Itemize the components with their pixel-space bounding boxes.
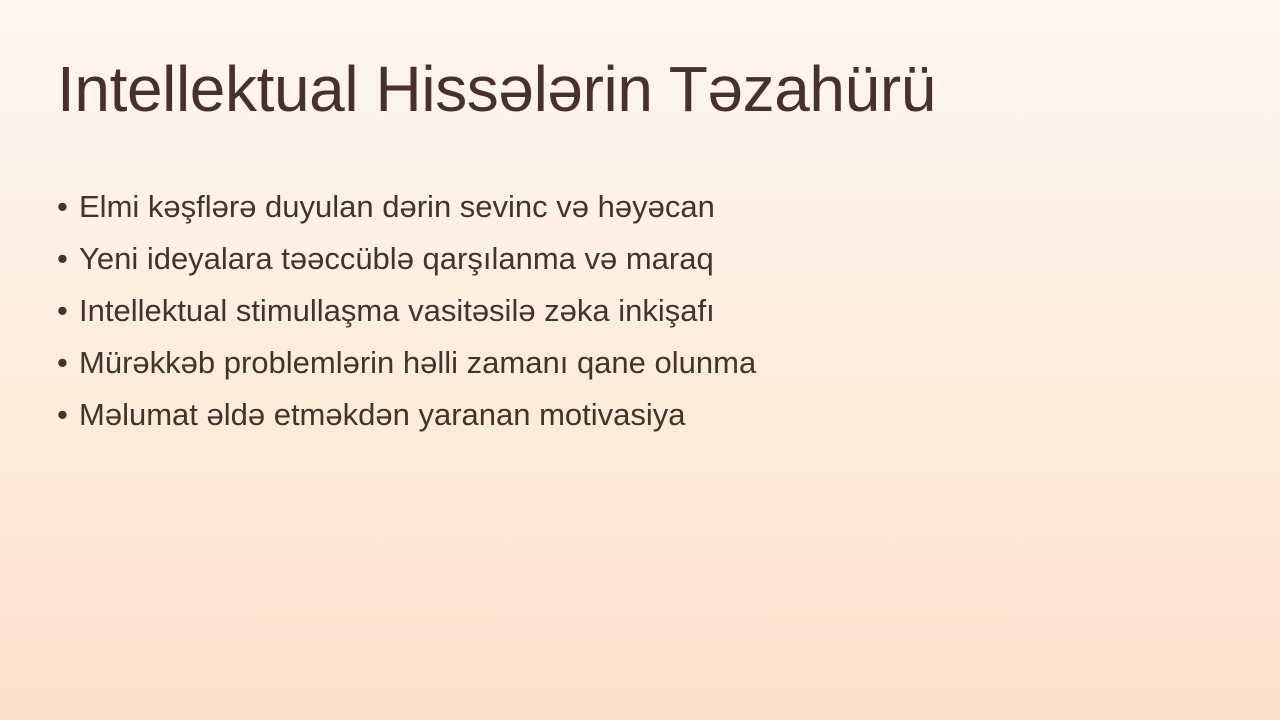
bullet-point-icon: • — [57, 342, 79, 384]
bullet-point-icon: • — [57, 238, 79, 280]
list-item: • Yeni ideyalara təəccüblə qarşılanma və… — [57, 238, 1157, 290]
list-item-label: Yeni ideyalara təəccüblə qarşılanma və m… — [79, 238, 714, 280]
bullet-point-icon: • — [57, 394, 79, 436]
list-item-label: Elmi kəşflərə duyulan dərin sevinc və hə… — [79, 186, 715, 228]
list-item-label: Intellektual stimullaşma vasitəsilə zəka… — [79, 290, 715, 332]
bullet-list: • Elmi kəşflərə duyulan dərin sevinc və … — [57, 186, 1157, 446]
slide-title: Intellektual Hissələrin Təzahürü — [57, 50, 936, 128]
list-item: • Elmi kəşflərə duyulan dərin sevinc və … — [57, 186, 1157, 238]
list-item-label: Mürəkkəb problemlərin həlli zamanı qane … — [79, 342, 756, 384]
list-item: • Mürəkkəb problemlərin həlli zamanı qan… — [57, 342, 1157, 394]
presentation-slide: Intellektual Hissələrin Təzahürü • Elmi … — [0, 0, 1280, 720]
list-item: • Məlumat əldə etməkdən yaranan motivasi… — [57, 394, 1157, 446]
bullet-point-icon: • — [57, 186, 79, 228]
list-item: • Intellektual stimullaşma vasitəsilə zə… — [57, 290, 1157, 342]
list-item-label: Məlumat əldə etməkdən yaranan motivasiya — [79, 394, 686, 436]
bullet-point-icon: • — [57, 290, 79, 332]
